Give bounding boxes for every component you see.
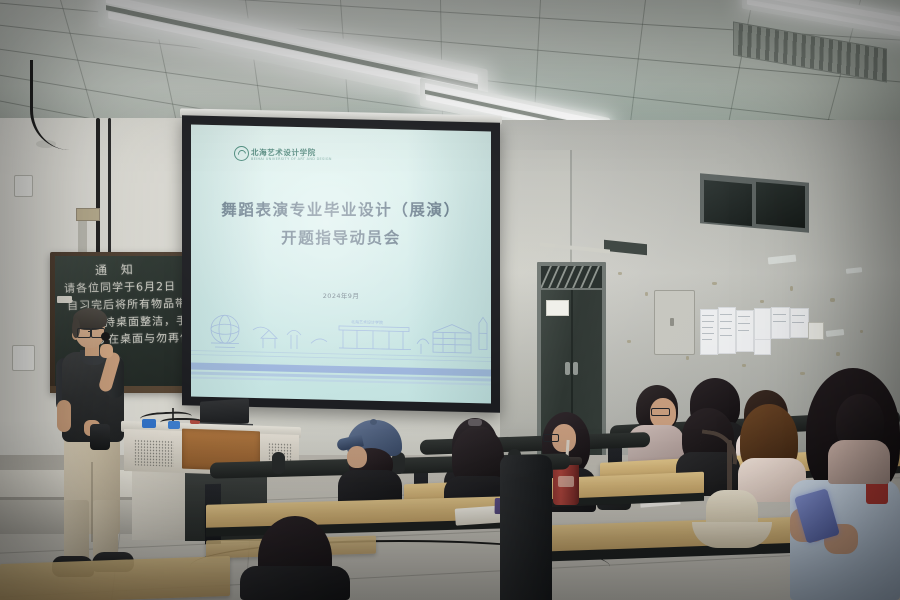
window-pane-right: [756, 182, 805, 228]
classroom-photo: 通 知 请各位同学于6月2日 自习完后将所有物品带走 保持桌面整洁，手机请 放在…: [0, 0, 900, 600]
slide-logo-english: BEIHAI UNIVERSITY OF ART AND DESIGN: [251, 157, 332, 161]
student-glasses: [651, 408, 670, 416]
lectern-speaker-grille-left: [134, 439, 174, 466]
presenter-leg-left: [64, 500, 89, 560]
door-handle[interactable]: [565, 362, 570, 375]
door-notice-sheet: [546, 300, 569, 316]
desk-foreground-left: [0, 556, 230, 600]
slide-title-line-1: 舞蹈表演专业毕业设计（展演）: [0, 198, 682, 220]
ceiling-cable: [30, 60, 113, 150]
cup-logo: [558, 476, 574, 487]
student-body: [828, 440, 890, 484]
presenter-leg-right: [93, 500, 118, 558]
hat-crown: [706, 490, 758, 526]
cap-button: [370, 419, 377, 425]
electrical-panel[interactable]: [654, 290, 695, 355]
bucket-hat: [692, 490, 772, 548]
student-head: [347, 446, 367, 468]
presenter-handheld-device: [90, 424, 110, 450]
hair-clip: [468, 419, 482, 426]
chair-back-front: [500, 455, 552, 600]
student-glasses: [543, 434, 559, 442]
bench-upright: [272, 452, 285, 474]
panel-lock-icon: [670, 318, 674, 326]
wall-switch-right[interactable]: [808, 322, 824, 340]
door-handle-secondary[interactable]: [573, 362, 578, 375]
wall-outlet[interactable]: [12, 345, 35, 371]
slide-title-line-2: 开题指导动员会: [0, 226, 682, 248]
slide-skyline-graphic: 北海艺术设计学院: [191, 306, 491, 371]
door-transom-grille: [541, 266, 602, 288]
presenter-forearm-left: [57, 400, 71, 432]
svg-text:北海艺术设计学院: 北海艺术设计学院: [351, 318, 383, 325]
student-body: [240, 566, 350, 600]
window-pane-left: [704, 180, 752, 226]
presenter-glasses-bridge: [88, 331, 92, 332]
presenter-hand-right: [100, 344, 113, 358]
wall-switch-left[interactable]: [14, 175, 33, 197]
microphone-icon: [101, 332, 110, 341]
presenter-glasses-left-lens: [77, 328, 91, 338]
hat-brim: [692, 522, 772, 548]
wall-posted-notices: [700, 307, 810, 355]
